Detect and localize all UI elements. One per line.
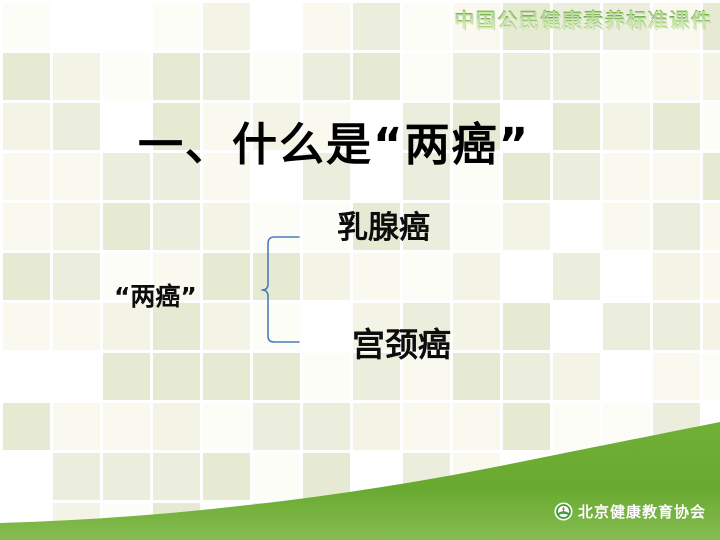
background-tile bbox=[453, 303, 500, 350]
footer-decorative-band bbox=[0, 420, 720, 540]
background-tile bbox=[603, 303, 650, 350]
background-tile bbox=[603, 103, 650, 150]
diagram-root-label: “两癌” bbox=[114, 277, 197, 313]
background-tile bbox=[553, 353, 600, 400]
background-tile bbox=[503, 203, 550, 250]
background-tile bbox=[3, 53, 50, 100]
background-tile bbox=[153, 353, 200, 400]
background-tile bbox=[703, 103, 720, 150]
background-tile bbox=[653, 103, 700, 150]
background-tile bbox=[653, 353, 700, 400]
background-tile bbox=[303, 353, 350, 400]
association-emblem-icon bbox=[554, 502, 573, 521]
diagram-branch-label-2: 宫颈癌 bbox=[352, 318, 451, 366]
background-tile bbox=[53, 203, 100, 250]
background-tile bbox=[553, 253, 600, 300]
background-tile bbox=[253, 353, 300, 400]
background-tile bbox=[603, 353, 650, 400]
curly-brace-icon bbox=[250, 225, 310, 355]
background-tile bbox=[503, 303, 550, 350]
background-tile bbox=[703, 203, 720, 250]
background-tile bbox=[553, 203, 600, 250]
background-tile bbox=[303, 3, 350, 50]
background-tile bbox=[103, 353, 150, 400]
background-tile bbox=[653, 203, 700, 250]
background-tile bbox=[53, 303, 100, 350]
background-tile bbox=[553, 303, 600, 350]
background-tile bbox=[53, 353, 100, 400]
background-tile bbox=[353, 53, 400, 100]
background-tile bbox=[203, 253, 250, 300]
background-tile bbox=[603, 253, 650, 300]
background-tile bbox=[653, 153, 700, 200]
background-tile bbox=[653, 253, 700, 300]
footer-logo: 北京健康教育协会 bbox=[554, 501, 706, 522]
background-tile bbox=[503, 253, 550, 300]
background-tile bbox=[453, 203, 500, 250]
background-tile bbox=[3, 203, 50, 250]
background-tile bbox=[603, 53, 650, 100]
background-tile bbox=[653, 303, 700, 350]
background-tile bbox=[453, 353, 500, 400]
background-tile bbox=[553, 153, 600, 200]
background-tile bbox=[353, 253, 400, 300]
background-tile bbox=[503, 53, 550, 100]
background-tile bbox=[103, 203, 150, 250]
background-tile bbox=[203, 3, 250, 50]
background-tile bbox=[503, 353, 550, 400]
background-tile bbox=[353, 3, 400, 50]
background-tile bbox=[703, 353, 720, 400]
background-tile bbox=[3, 353, 50, 400]
background-tile bbox=[703, 53, 720, 100]
background-tile bbox=[3, 303, 50, 350]
diagram-branch-label-1: 乳腺癌 bbox=[337, 202, 430, 247]
background-tile bbox=[103, 53, 150, 100]
background-tile bbox=[3, 253, 50, 300]
background-tile bbox=[153, 3, 200, 50]
background-tile bbox=[53, 153, 100, 200]
background-tile bbox=[703, 303, 720, 350]
background-tile bbox=[603, 203, 650, 250]
background-tile bbox=[703, 153, 720, 200]
background-tile bbox=[203, 53, 250, 100]
background-tile bbox=[53, 3, 100, 50]
background-tile bbox=[403, 53, 450, 100]
background-tile bbox=[403, 253, 450, 300]
background-tile bbox=[53, 253, 100, 300]
background-tile bbox=[303, 303, 350, 350]
background-tile bbox=[403, 3, 450, 50]
background-tile bbox=[3, 153, 50, 200]
background-tile bbox=[603, 153, 650, 200]
background-tile bbox=[153, 203, 200, 250]
background-tile bbox=[703, 253, 720, 300]
background-tile bbox=[3, 3, 50, 50]
background-tile bbox=[253, 53, 300, 100]
background-tile bbox=[303, 253, 350, 300]
page-title: 一、什么是“两癌” bbox=[138, 108, 530, 173]
background-tile bbox=[453, 53, 500, 100]
background-tile bbox=[553, 53, 600, 100]
background-tile bbox=[253, 3, 300, 50]
background-tile bbox=[203, 353, 250, 400]
background-tile bbox=[3, 103, 50, 150]
background-tile bbox=[303, 53, 350, 100]
background-tile bbox=[453, 253, 500, 300]
background-tile bbox=[203, 203, 250, 250]
background-tile bbox=[53, 103, 100, 150]
background-tile bbox=[153, 53, 200, 100]
background-tile bbox=[203, 303, 250, 350]
background-tile bbox=[103, 3, 150, 50]
background-tile bbox=[53, 53, 100, 100]
header-title: 中国公民健康素养标准课件 bbox=[454, 4, 712, 33]
presentation-slide: 中国公民健康素养标准课件 中国公民健康素养标准课件 一、什么是“两癌” “两癌”… bbox=[0, 0, 720, 540]
background-tile bbox=[553, 103, 600, 150]
footer-organization-name: 北京健康教育协会 bbox=[578, 501, 706, 522]
background-tile bbox=[653, 53, 700, 100]
